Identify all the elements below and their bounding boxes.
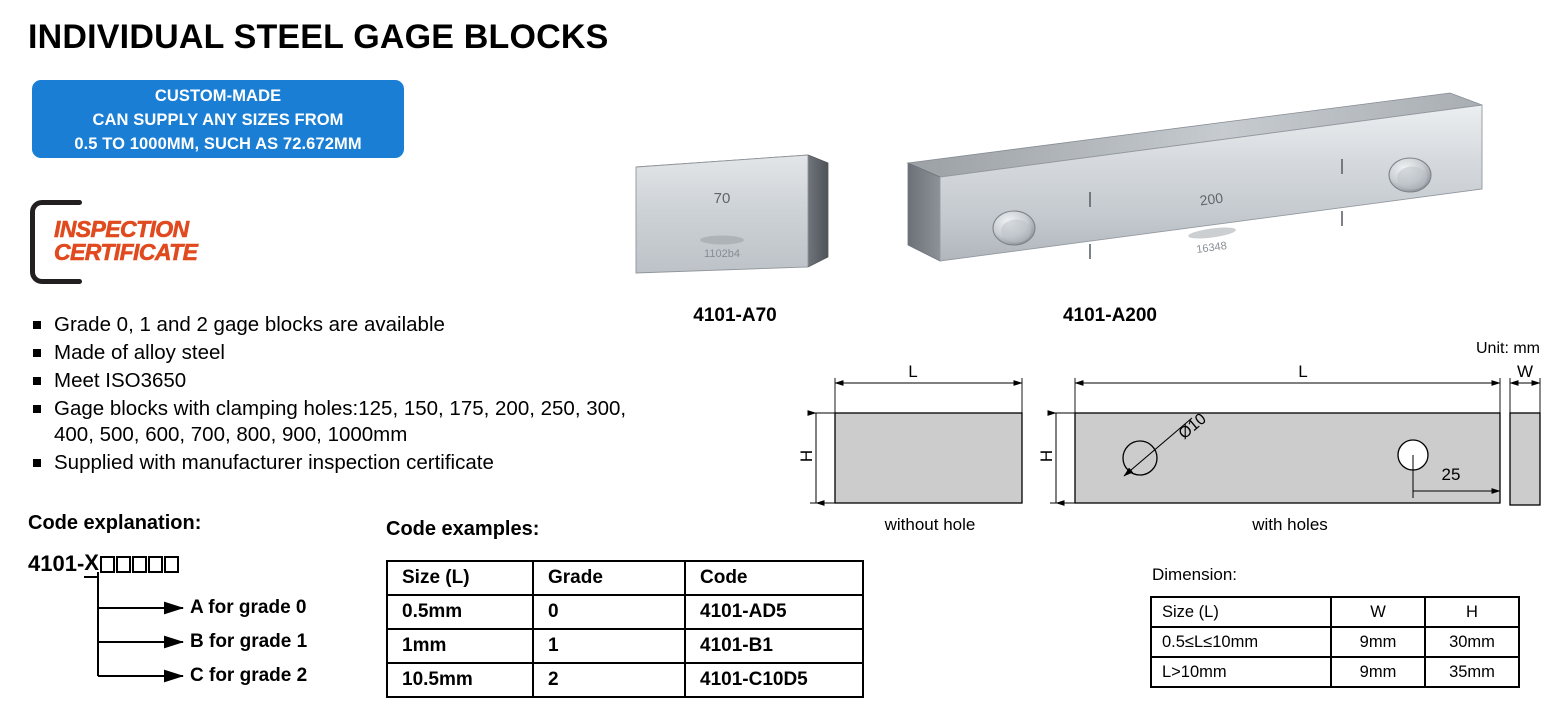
feature-text: Grade 0, 1 and 2 gage blocks are availab…	[54, 313, 445, 336]
table-row: L>10mm 9mm 35mm	[1151, 657, 1519, 687]
code-placeholder-square	[116, 556, 131, 573]
code-prefix: 4101-	[28, 551, 84, 577]
code-examples-table: Size (L) Grade Code 0.5mm 0 4101-AD5 1mm…	[386, 560, 864, 698]
table-row: 1mm 1 4101-B1	[387, 629, 863, 663]
column-header-code: Code	[685, 561, 863, 595]
length-label-without-hole: L	[898, 362, 928, 382]
feature-item: Gage blocks with clamping holes:125, 150…	[30, 396, 630, 447]
cell-w: 9mm	[1331, 627, 1425, 657]
table-header-row: Size (L) W H	[1151, 597, 1519, 627]
column-header-w: W	[1331, 597, 1425, 627]
square-bullet-icon	[33, 405, 41, 413]
dimension-heading: Dimension:	[1152, 565, 1237, 585]
code-explanation-heading: Code explanation:	[28, 512, 201, 535]
table-row: 0.5mm 0 4101-AD5	[387, 595, 863, 629]
code-placeholder-square	[164, 556, 179, 573]
cell-code: 4101-AD5	[685, 595, 863, 629]
code-placeholder-square	[100, 556, 115, 573]
code-placeholder-square	[148, 556, 163, 573]
table-row: 0.5≤L≤10mm 9mm 30mm	[1151, 627, 1519, 657]
feature-item: Supplied with manufacturer inspection ce…	[30, 450, 630, 476]
unit-note: Unit: mm	[1476, 340, 1540, 358]
custom-made-line-1: CUSTOM-MADE	[32, 84, 404, 108]
cell-size: L>10mm	[1151, 657, 1331, 687]
feature-text: Made of alloy steel	[54, 341, 225, 364]
inspection-certificate-logo: INSPECTION CERTIFICATE	[28, 200, 258, 280]
square-bullet-icon	[33, 349, 41, 357]
grade-label-b: B for grade 1	[190, 631, 307, 653]
page-title: INDIVIDUAL STEEL GAGE BLOCKS	[28, 18, 609, 57]
square-bullet-icon	[33, 377, 41, 385]
column-header-h: H	[1425, 597, 1519, 627]
cell-size: 0.5≤L≤10mm	[1151, 627, 1331, 657]
height-label-with-holes: H	[1037, 446, 1057, 466]
feature-item: Made of alloy steel	[30, 340, 630, 366]
code-placeholder-square	[132, 556, 147, 573]
cell-grade: 2	[533, 663, 685, 697]
cell-size: 1mm	[387, 629, 533, 663]
height-label-without-hole: H	[797, 446, 817, 466]
caption-without-hole: without hole	[835, 515, 1025, 535]
grade-label-a: A for grade 0	[190, 597, 307, 619]
dimension-table: Size (L) W H 0.5≤L≤10mm 9mm 30mm L>10mm …	[1150, 596, 1520, 688]
width-label-side-view: W	[1510, 362, 1540, 382]
block-serial-marking: 16348	[1196, 240, 1228, 256]
custom-made-line-2: CAN SUPPLY ANY SIZES FROM	[32, 108, 404, 132]
product-caption-a70: 4101-A70	[630, 305, 840, 327]
feature-item: Meet ISO3650	[30, 368, 630, 394]
product-photo-a200: 200 16348	[890, 85, 1490, 295]
square-bullet-icon	[33, 321, 41, 329]
cell-h: 30mm	[1425, 627, 1519, 657]
cell-code: 4101-B1	[685, 629, 863, 663]
block-size-marking: 200	[1199, 190, 1224, 209]
cell-code: 4101-C10D5	[685, 663, 863, 697]
caption-with-holes: with holes	[1195, 515, 1385, 535]
edge-distance-label: 25	[1436, 465, 1466, 485]
code-examples-heading: Code examples:	[386, 518, 539, 541]
column-header-size: Size (L)	[1151, 597, 1331, 627]
grade-label-c: C for grade 2	[190, 665, 307, 687]
logo-line-inspection: INSPECTION	[54, 218, 197, 241]
gage-block-200-illustration: 200 16348	[890, 85, 1490, 295]
feature-text: Meet ISO3650	[54, 369, 186, 392]
block-serial-marking: 1102b4	[704, 248, 740, 260]
column-header-size: Size (L)	[387, 561, 533, 595]
table-header-row: Size (L) Grade Code	[387, 561, 863, 595]
table-row: 10.5mm 2 4101-C10D5	[387, 663, 863, 697]
block-size-marking: 70	[714, 190, 731, 207]
cell-grade: 1	[533, 629, 685, 663]
column-header-grade: Grade	[533, 561, 685, 595]
cell-grade: 0	[533, 595, 685, 629]
feature-list: Grade 0, 1 and 2 gage blocks are availab…	[30, 312, 630, 478]
feature-text: Supplied with manufacturer inspection ce…	[54, 451, 494, 474]
length-label-with-holes: L	[1288, 362, 1318, 382]
cell-size: 0.5mm	[387, 595, 533, 629]
product-photo-a70: 70 1102b4	[630, 145, 840, 285]
inspection-certificate-text: INSPECTION CERTIFICATE	[54, 218, 197, 264]
catalog-page: INDIVIDUAL STEEL GAGE BLOCKS CUSTOM-MADE…	[0, 0, 1554, 710]
logo-line-certificate: CERTIFICATE	[54, 241, 197, 264]
cell-w: 9mm	[1331, 657, 1425, 687]
feature-text: Gage blocks with clamping holes:125, 150…	[54, 397, 626, 446]
custom-made-badge: CUSTOM-MADE CAN SUPPLY ANY SIZES FROM 0.…	[32, 80, 404, 158]
product-caption-a200: 4101-A200	[990, 305, 1230, 327]
cell-size: 10.5mm	[387, 663, 533, 697]
square-bullet-icon	[33, 459, 41, 467]
feature-item: Grade 0, 1 and 2 gage blocks are availab…	[30, 312, 630, 338]
grade-leader-lines	[95, 572, 205, 692]
custom-made-line-3: 0.5 TO 1000MM, SUCH AS 72.672MM	[32, 132, 404, 156]
gage-block-70-illustration: 70 1102b4	[630, 145, 840, 285]
cell-h: 35mm	[1425, 657, 1519, 687]
